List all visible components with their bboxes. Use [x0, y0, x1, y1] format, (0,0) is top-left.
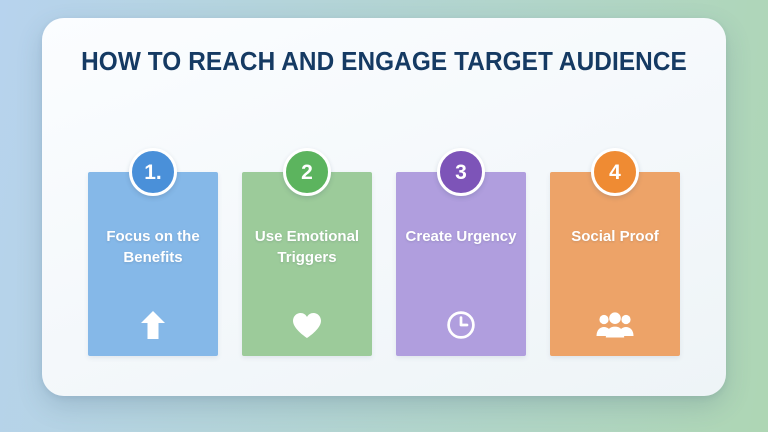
- step-card-1-body: 1. Focus on the Benefits: [88, 172, 218, 356]
- step-number-label-3: 3: [455, 162, 467, 183]
- clock-icon: [396, 310, 526, 340]
- step-label-4: Social Proof: [556, 226, 674, 247]
- step-card-3[interactable]: 3 Create Urgency: [396, 172, 526, 356]
- arrow-up-icon: [88, 310, 218, 340]
- step-number-badge-2: 2: [283, 148, 331, 196]
- heart-icon: [242, 310, 372, 340]
- step-card-4-body: 4 Social Proof: [550, 172, 680, 356]
- step-label-1: Focus on the Benefits: [94, 226, 212, 269]
- step-card-4[interactable]: 4 Social Proof: [550, 172, 680, 356]
- step-number-badge-3: 3: [437, 148, 485, 196]
- step-number-badge-4: 4: [591, 148, 639, 196]
- step-number-badge-1: 1.: [129, 148, 177, 196]
- step-label-3: Create Urgency: [402, 226, 520, 247]
- steps-row: 1. Focus on the Benefits 2 Use Emotional…: [88, 172, 680, 356]
- step-number-label-4: 4: [609, 162, 621, 183]
- step-number-label-2: 2: [301, 162, 313, 183]
- step-card-2-body: 2 Use Emotional Triggers: [242, 172, 372, 356]
- step-card-1[interactable]: 1. Focus on the Benefits: [88, 172, 218, 356]
- people-group-icon: [550, 310, 680, 340]
- step-card-3-body: 3 Create Urgency: [396, 172, 526, 356]
- step-card-2[interactable]: 2 Use Emotional Triggers: [242, 172, 372, 356]
- page-title: HOW TO REACH AND ENGAGE TARGET AUDIENCE: [17, 48, 750, 77]
- step-label-2: Use Emotional Triggers: [248, 226, 366, 269]
- step-number-label-1: 1.: [144, 162, 162, 183]
